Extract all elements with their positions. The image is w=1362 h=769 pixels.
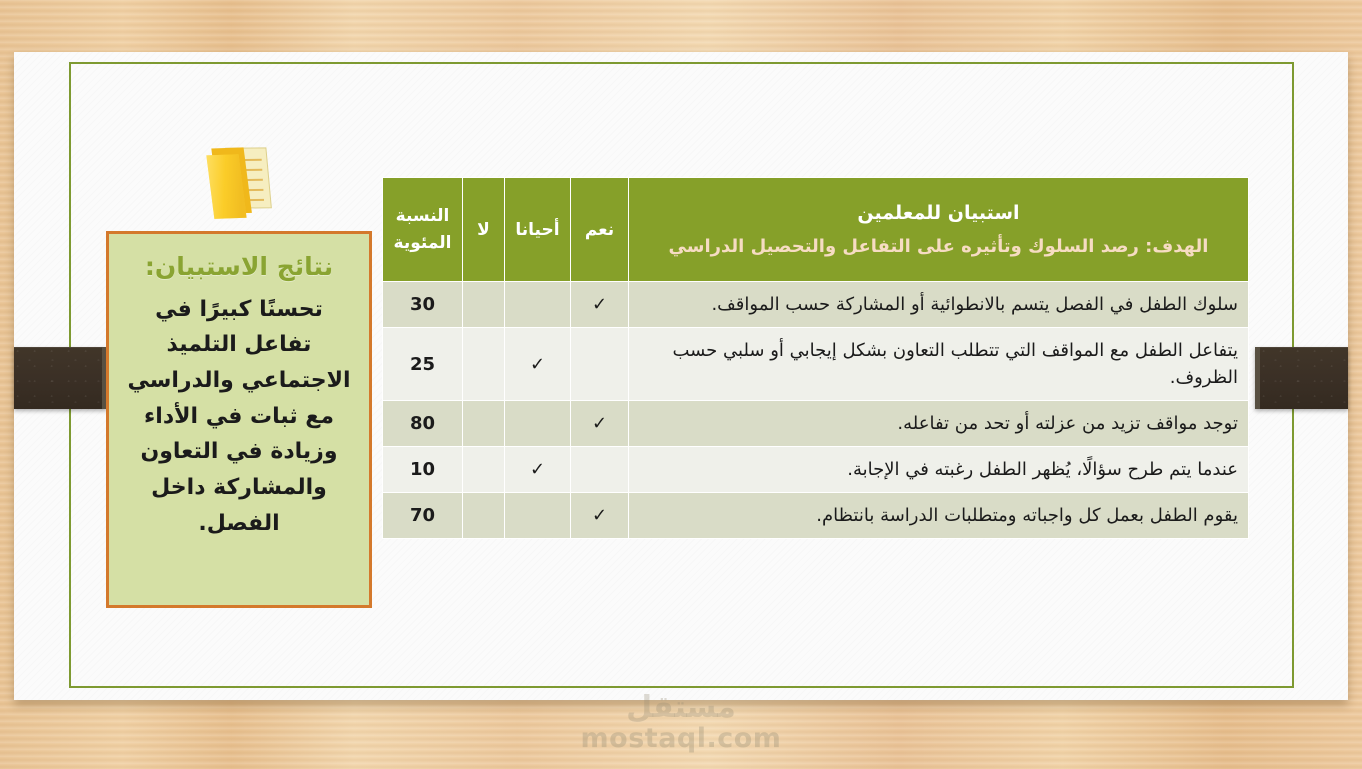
survey-statement-cell: سلوك الطفل في الفصل يتسم بالانطوائية أو … (629, 282, 1249, 328)
survey-percent-cell: 70 (383, 493, 463, 539)
survey-table-body: سلوك الطفل في الفصل يتسم بالانطوائية أو … (383, 282, 1249, 539)
left-ribbon-tab (14, 347, 107, 409)
survey-answer-yes-cell: ✓ (571, 401, 629, 447)
survey-answer-sometimes-cell (505, 493, 571, 539)
survey-table-title: استبيان للمعلمين (635, 199, 1242, 228)
survey-statement-cell: يقوم الطفل بعمل كل واجباته ومتطلبات الدر… (629, 493, 1249, 539)
survey-answer-sometimes-cell (505, 401, 571, 447)
column-header-no: لا (463, 178, 505, 282)
column-header-yes: نعم (571, 178, 629, 282)
survey-answer-yes-cell: ✓ (571, 282, 629, 328)
right-ribbon-tab (1255, 347, 1348, 409)
survey-percent-cell: 30 (383, 282, 463, 328)
survey-answer-no-cell (463, 328, 505, 401)
survey-table-row: عندما يتم طرح سؤالًا، يُظهر الطفل رغبته … (383, 447, 1249, 493)
survey-answer-yes-cell (571, 328, 629, 401)
survey-percent-cell: 80 (383, 401, 463, 447)
survey-header-row: استبيان للمعلمين الهدف: رصد السلوك وتأثي… (383, 178, 1249, 282)
column-header-sometimes: أحيانا (505, 178, 571, 282)
column-header-statement: استبيان للمعلمين الهدف: رصد السلوك وتأثي… (629, 178, 1249, 282)
survey-answer-sometimes-cell: ✓ (505, 447, 571, 493)
survey-table-head: استبيان للمعلمين الهدف: رصد السلوك وتأثي… (383, 178, 1249, 282)
survey-answer-no-cell (463, 447, 505, 493)
watermark-url-text: mostaql.com (0, 724, 1362, 754)
survey-table-row: يقوم الطفل بعمل كل واجباته ومتطلبات الدر… (383, 493, 1249, 539)
survey-table-row: يتفاعل الطفل مع المواقف التي تتطلب التعا… (383, 328, 1249, 401)
survey-statement-cell: يتفاعل الطفل مع المواقف التي تتطلب التعا… (629, 328, 1249, 401)
survey-answer-sometimes-cell: ✓ (505, 328, 571, 401)
mostaql-watermark: مستقل mostaql.com (0, 692, 1362, 753)
survey-answer-no-cell (463, 493, 505, 539)
survey-answer-sometimes-cell (505, 282, 571, 328)
survey-results-body: تحسنًا كبيرًا في تفاعل التلميذ الاجتماعي… (123, 292, 355, 541)
teacher-survey-table: استبيان للمعلمين الهدف: رصد السلوك وتأثي… (382, 177, 1249, 539)
folder-documents-icon (196, 128, 288, 224)
survey-percent-cell: 25 (383, 328, 463, 401)
survey-results-title: نتائج الاستبيان: (123, 250, 355, 284)
survey-table-row: توجد مواقف تزيد من عزلته أو تحد من تفاعل… (383, 401, 1249, 447)
survey-answer-yes-cell: ✓ (571, 493, 629, 539)
survey-answer-no-cell (463, 282, 505, 328)
survey-answer-yes-cell (571, 447, 629, 493)
survey-results-callout: نتائج الاستبيان: تحسنًا كبيرًا في تفاعل … (106, 231, 372, 608)
survey-answer-no-cell (463, 401, 505, 447)
survey-table-goal: الهدف: رصد السلوك وتأثيره على التفاعل وا… (635, 233, 1242, 260)
survey-statement-cell: توجد مواقف تزيد من عزلته أو تحد من تفاعل… (629, 401, 1249, 447)
column-header-percent: النسبة المئوية (383, 178, 463, 282)
survey-percent-cell: 10 (383, 447, 463, 493)
survey-table-row: سلوك الطفل في الفصل يتسم بالانطوائية أو … (383, 282, 1249, 328)
survey-statement-cell: عندما يتم طرح سؤالًا، يُظهر الطفل رغبته … (629, 447, 1249, 493)
slide-canvas: نتائج الاستبيان: تحسنًا كبيرًا في تفاعل … (0, 0, 1362, 769)
